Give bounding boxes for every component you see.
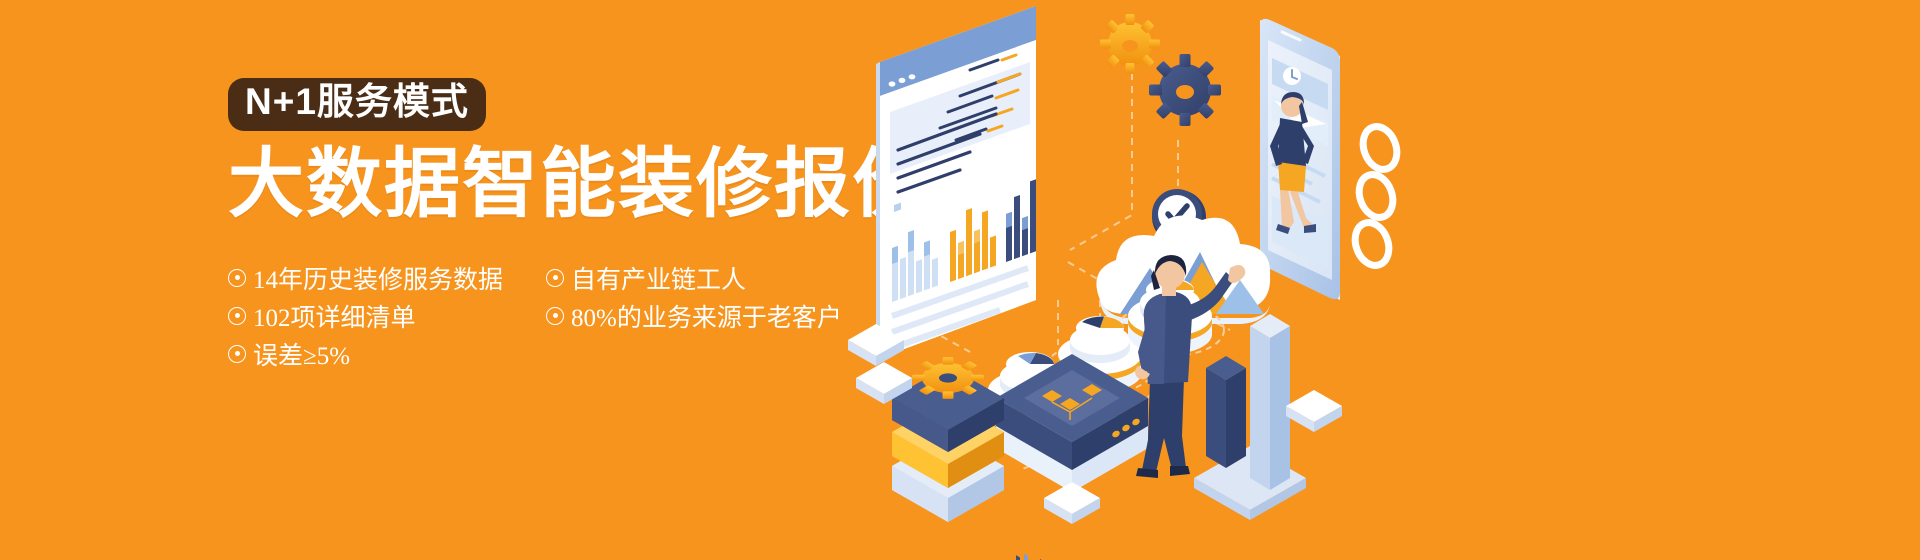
server-box	[996, 354, 1148, 560]
list-item: 14年历史装修服务数据	[228, 259, 546, 297]
target-dot-icon	[228, 345, 246, 363]
service-model-badge: N+1服务模式	[228, 78, 486, 131]
target-dot-icon	[228, 307, 246, 325]
list-item-label: 误差≥5%	[253, 336, 350, 372]
list-item-label: 自有产业链工人	[571, 260, 746, 296]
list-item-label: 80%的业务来源于老客户	[571, 298, 842, 334]
bar-chart-columns	[1016, 554, 1052, 560]
list-item-label: 102项详细清单	[253, 298, 416, 334]
orange-gear-icon	[1100, 14, 1160, 74]
list-item: 误差≥5%	[228, 335, 546, 373]
target-dot-icon	[228, 269, 246, 287]
banner-root: N+1服务模式 大数据智能装修报价 14年历史装修服务数据 自有产业链工人 10…	[0, 0, 1920, 560]
list-item: 102项详细清单	[228, 297, 546, 335]
list-item-label: 14年历史装修服务数据	[253, 260, 503, 296]
target-dot-icon	[546, 307, 564, 325]
isometric-big-data-illustration	[820, 0, 1420, 560]
orange-gear-small-icon	[912, 357, 984, 399]
navy-gear-icon	[1149, 54, 1221, 126]
ring-stack	[1349, 122, 1402, 270]
browser-dashboard-window	[876, 6, 1036, 358]
target-dot-icon	[546, 269, 564, 287]
